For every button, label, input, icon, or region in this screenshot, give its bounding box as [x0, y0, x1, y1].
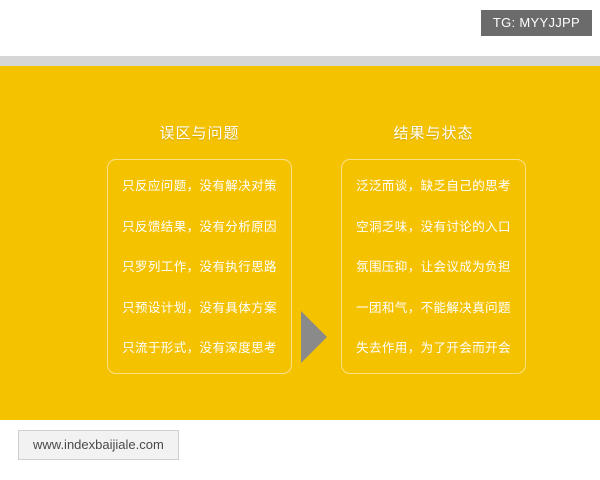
- list-item: 只反馈结果，没有分析原因: [108, 219, 291, 234]
- list-item: 只罗列工作，没有执行思路: [108, 259, 291, 274]
- list-item: 只预设计划，没有具体方案: [108, 300, 291, 315]
- list-item: 氛围压抑，让会议成为负担: [342, 259, 525, 274]
- column-results: 结果与状态 泛泛而谈，缺乏自己的思考 空洞乏味，没有讨论的入口 氛围压抑，让会议…: [341, 122, 526, 374]
- list-item: 只流于形式，没有深度思考: [108, 340, 291, 355]
- column-results-box: 泛泛而谈，缺乏自己的思考 空洞乏味，没有讨论的入口 氛围压抑，让会议成为负担 一…: [341, 159, 526, 374]
- columns-container: 误区与问题 只反应问题，没有解决对策 只反馈结果，没有分析原因 只罗列工作，没有…: [0, 66, 600, 420]
- list-item: 只反应问题，没有解决对策: [108, 178, 291, 193]
- column-results-title: 结果与状态: [341, 122, 526, 143]
- slide-panel: 误区与问题 只反应问题，没有解决对策 只反馈结果，没有分析原因 只罗列工作，没有…: [0, 66, 600, 420]
- column-problems-box: 只反应问题，没有解决对策 只反馈结果，没有分析原因 只罗列工作，没有执行思路 只…: [107, 159, 292, 374]
- list-item: 失去作用，为了开会而开会: [342, 340, 525, 355]
- tg-tag-badge: TG: MYYJJPP: [481, 10, 592, 36]
- column-problems-title: 误区与问题: [107, 122, 292, 143]
- list-item: 一团和气，不能解决真问题: [342, 300, 525, 315]
- right-arrow-icon: [301, 311, 327, 363]
- column-problems: 误区与问题 只反应问题，没有解决对策 只反馈结果，没有分析原因 只罗列工作，没有…: [107, 122, 292, 374]
- list-item: 泛泛而谈，缺乏自己的思考: [342, 178, 525, 193]
- list-item: 空洞乏味，没有讨论的入口: [342, 219, 525, 234]
- header-divider: [0, 56, 600, 66]
- site-watermark: www.indexbaijiale.com: [18, 430, 179, 460]
